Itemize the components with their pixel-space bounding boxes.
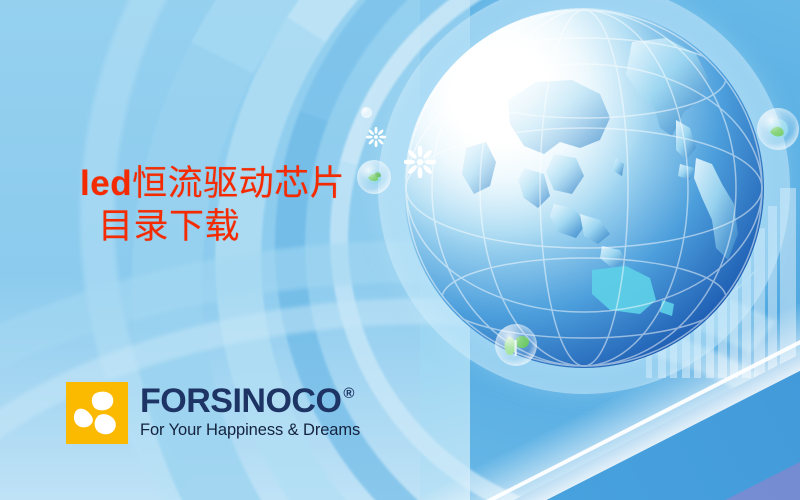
brand-tagline: For Your Happiness & Dreams <box>140 421 360 440</box>
headline-latin: led <box>80 164 132 203</box>
headline: led恒流驱动芯片 目录下载 <box>80 163 410 248</box>
brand-name: FORSINOCO ® <box>140 384 360 418</box>
globe-sphere <box>404 8 764 368</box>
headline-line-1: led恒流驱动芯片 <box>80 163 410 206</box>
headline-cjk: 恒流驱动芯片 <box>132 164 345 204</box>
globe-grid-lines <box>404 8 764 368</box>
headline-line-2: 目录下载 <box>80 206 410 249</box>
world-globe <box>404 8 796 338</box>
logo-mark <box>66 382 128 444</box>
registered-trademark-icon: ® <box>343 386 354 401</box>
four-petal-pinwheel-icon <box>66 382 128 444</box>
brand-logo: FORSINOCO ® For Your Happiness & Dreams <box>66 382 360 444</box>
brand-word: FORSINOCO <box>140 384 341 418</box>
logo-text-block: FORSINOCO ® For Your Happiness & Dreams <box>140 382 360 440</box>
promo-banner: led恒流驱动芯片 目录下载 FORSINOCO ® For Your Happ… <box>0 0 800 500</box>
